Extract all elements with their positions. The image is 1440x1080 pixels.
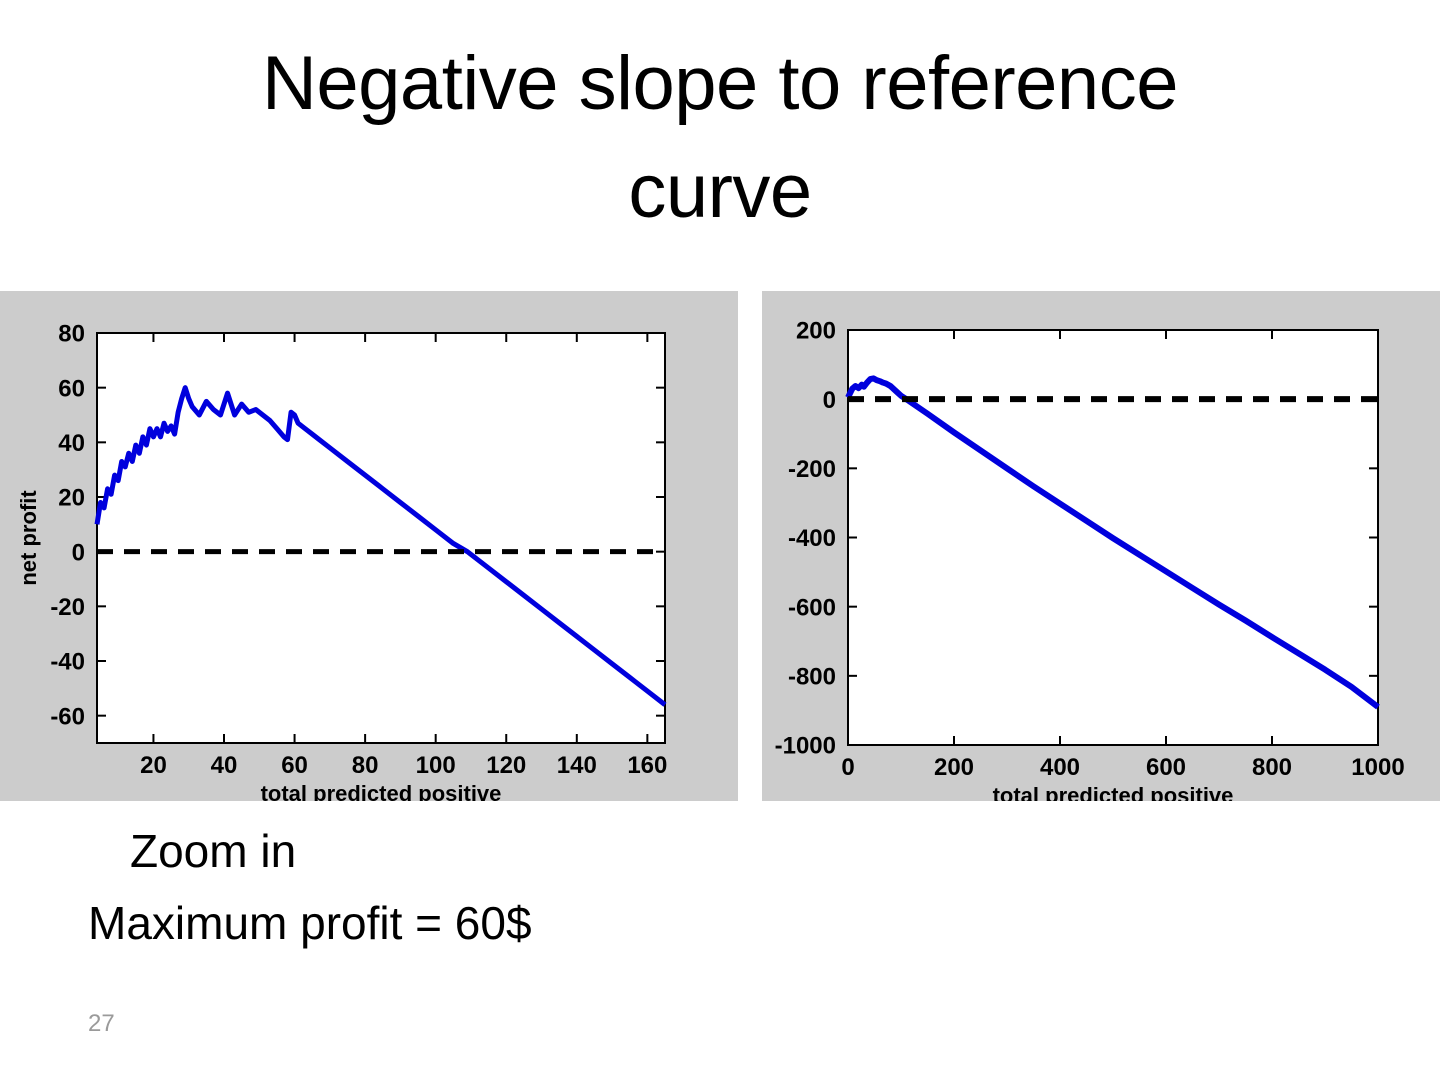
bullet-maximum-profit: Maximum profit = 60$ [88, 900, 532, 946]
y-tick-label: -800 [788, 663, 836, 690]
chart-panel-full-range: 020040060080010002000-200-400-600-800-10… [762, 291, 1440, 801]
x-tick-label: 800 [1252, 754, 1292, 781]
y-tick-label: 200 [796, 318, 836, 345]
y-tick-label: 60 [58, 375, 85, 402]
y-tick-label: 0 [72, 539, 85, 566]
y-axis-label: net profit [16, 490, 41, 586]
x-tick-label: 20 [140, 752, 167, 779]
x-tick-label: 40 [211, 752, 238, 779]
x-tick-label: 60 [281, 752, 308, 779]
x-tick-label: 0 [841, 754, 854, 781]
y-tick-label: -1000 [775, 733, 836, 760]
y-tick-label: 80 [58, 321, 85, 348]
y-tick-label: -200 [788, 456, 836, 483]
right-chart-svg: 020040060080010002000-200-400-600-800-10… [762, 291, 1440, 801]
figure-band: 20406080100120140160806040200-20-40-60to… [0, 291, 1440, 801]
y-tick-label: -20 [50, 594, 85, 621]
x-tick-label: 140 [557, 752, 597, 779]
x-axis-label: total predicted positive [261, 781, 502, 801]
left-chart-svg: 20406080100120140160806040200-20-40-60to… [0, 291, 738, 801]
page-title: Negative slope to reference curve [0, 30, 1440, 246]
chart-panel-zoomed: 20406080100120140160806040200-20-40-60to… [0, 291, 738, 801]
y-tick-label: 0 [823, 387, 836, 414]
x-tick-label: 80 [352, 752, 379, 779]
bullet-zoom-in: Zoom in [130, 828, 296, 874]
y-tick-label: 20 [58, 485, 85, 512]
y-tick-label: 40 [58, 430, 85, 457]
x-tick-label: 200 [934, 754, 974, 781]
y-tick-label: -40 [50, 649, 85, 676]
x-axis-label: total predicted positive [993, 783, 1234, 801]
y-tick-label: -400 [788, 525, 836, 552]
slide-number: 27 [88, 1010, 115, 1038]
x-tick-label: 600 [1146, 754, 1186, 781]
x-tick-label: 400 [1040, 754, 1080, 781]
x-tick-label: 1000 [1351, 754, 1404, 781]
x-tick-label: 160 [627, 752, 667, 779]
x-tick-label: 120 [486, 752, 526, 779]
y-tick-label: -60 [50, 703, 85, 730]
y-tick-label: -600 [788, 594, 836, 621]
x-tick-label: 100 [416, 752, 456, 779]
